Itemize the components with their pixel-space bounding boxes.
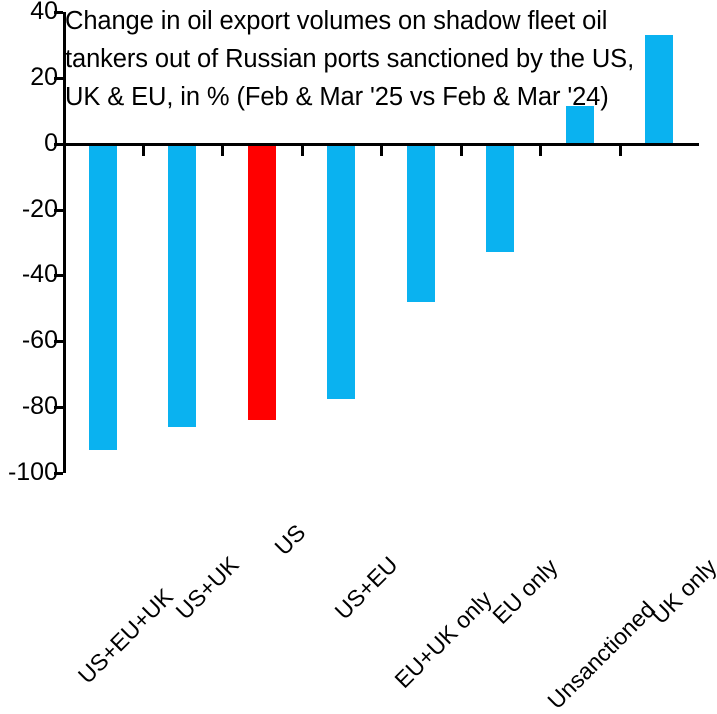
y-axis-tick-label: -60 (2, 328, 58, 353)
x-axis-tick-mark (380, 145, 383, 156)
bar[interactable] (486, 144, 514, 253)
x-axis-category-label: Unsanctioned (543, 597, 659, 713)
y-axis-tick-mark (54, 472, 63, 475)
x-axis-category-label: EU+UK only (391, 587, 496, 692)
y-axis-tick-mark (54, 143, 63, 146)
x-axis-tick-mark (221, 145, 224, 156)
y-axis-tick-label: -40 (2, 262, 58, 287)
y-axis-tick-label: -100 (2, 460, 58, 485)
x-axis-category-label: US+EU (331, 553, 402, 624)
y-axis-labels: 40200-20-40-60-80-100 (0, 0, 58, 628)
bar[interactable] (407, 144, 435, 302)
bar[interactable] (168, 144, 196, 427)
x-axis-tick-mark (619, 145, 622, 156)
x-axis-tick-mark (301, 145, 304, 156)
x-axis-category-label: EU only (489, 555, 562, 628)
x-axis-category-label: US+EU+UK (74, 585, 177, 688)
y-axis-tick-mark (54, 340, 63, 343)
y-axis-tick-mark (54, 406, 63, 409)
y-axis-tick-mark (54, 77, 63, 80)
y-axis-tick-label: -80 (2, 394, 58, 419)
x-axis-tick-mark (142, 145, 145, 156)
bar[interactable] (645, 35, 673, 144)
y-axis-tick-label: 20 (2, 65, 58, 90)
x-axis-category-label: US (271, 521, 310, 560)
x-axis-category-label: UK only (648, 555, 717, 628)
bar[interactable] (248, 144, 276, 421)
x-axis-tick-mark (460, 145, 463, 156)
y-axis-tick-label: 0 (2, 131, 58, 156)
bar-chart: Change in oil export volumes on shadow f… (0, 0, 717, 628)
bar[interactable] (566, 106, 594, 144)
x-axis-category-label: US+UK (172, 553, 243, 624)
y-axis-tick-mark (54, 209, 63, 212)
x-axis-tick-mark (539, 145, 542, 156)
plot-area (63, 12, 699, 473)
y-axis-tick-mark (54, 274, 63, 277)
y-axis-tick-label: -20 (2, 197, 58, 222)
bar[interactable] (89, 144, 117, 450)
y-axis-tick-mark (54, 11, 63, 14)
bar[interactable] (327, 144, 355, 399)
y-axis-tick-label: 40 (2, 0, 58, 24)
